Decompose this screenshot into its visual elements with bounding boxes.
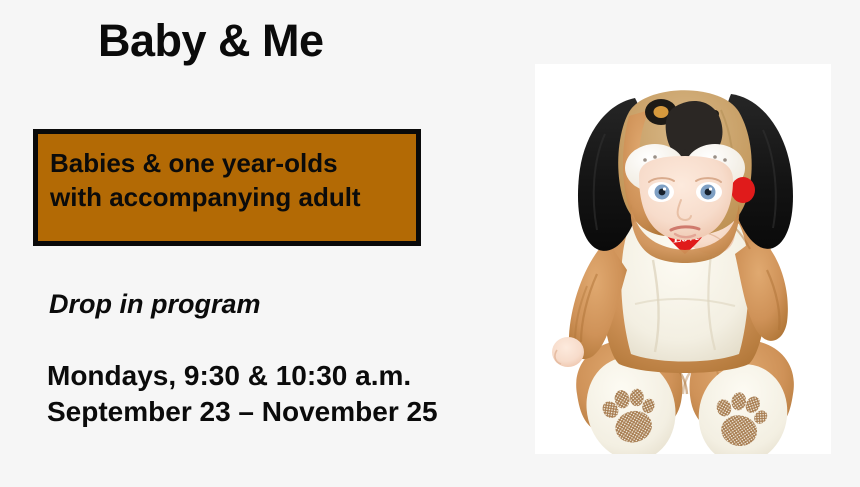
schedule-block: Mondays, 9:30 & 10:30 a.m. September 23 … (47, 358, 527, 431)
audience-callout-text: Babies & one year-olds with accompanying… (50, 146, 410, 215)
dog-tongue (731, 177, 755, 203)
page-title: Baby & Me (98, 17, 324, 64)
audience-callout-box: Babies & one year-olds with accompanying… (33, 129, 421, 246)
audience-line-1: Babies & one year-olds (50, 146, 410, 180)
schedule-line-days-times: Mondays, 9:30 & 10:30 a.m. (47, 358, 527, 394)
audience-line-2: with accompanying adult (50, 180, 410, 214)
program-type-label: Drop in program (49, 289, 261, 320)
text-column: Baby & Me Babies & one year-olds with ac… (0, 0, 535, 487)
schedule-line-date-range: September 23 – November 25 (47, 394, 527, 430)
baby-puppy-costume-photo: Puppy Love (535, 64, 831, 454)
poster-canvas: Baby & Me Babies & one year-olds with ac… (0, 0, 860, 487)
baby-puppy-illustration: Puppy Love (535, 64, 831, 454)
